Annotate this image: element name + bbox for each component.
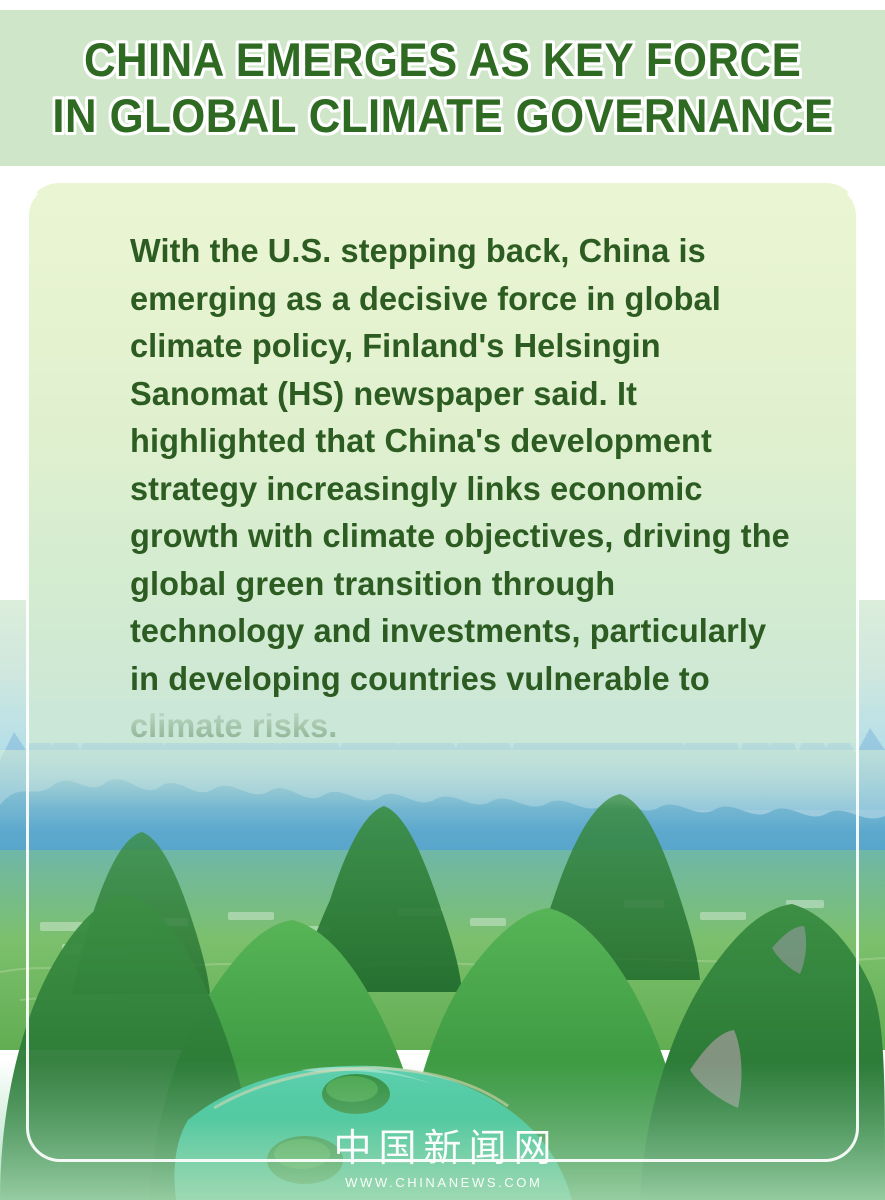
headline-line-2: IN GLOBAL CLIMATE GOVERNANCE [52, 88, 833, 144]
header-band: CHINA EMERGES AS KEY FORCE IN GLOBAL CLI… [0, 10, 885, 166]
headline-line-1: CHINA EMERGES AS KEY FORCE [84, 32, 801, 88]
top-white-strip [0, 0, 885, 10]
poster: CHINA EMERGES AS KEY FORCE IN GLOBAL CLI… [0, 0, 885, 1200]
quote-card: With the U.S. stepping back, China is em… [27, 183, 858, 743]
quote-text: With the U.S. stepping back, China is em… [130, 227, 792, 750]
